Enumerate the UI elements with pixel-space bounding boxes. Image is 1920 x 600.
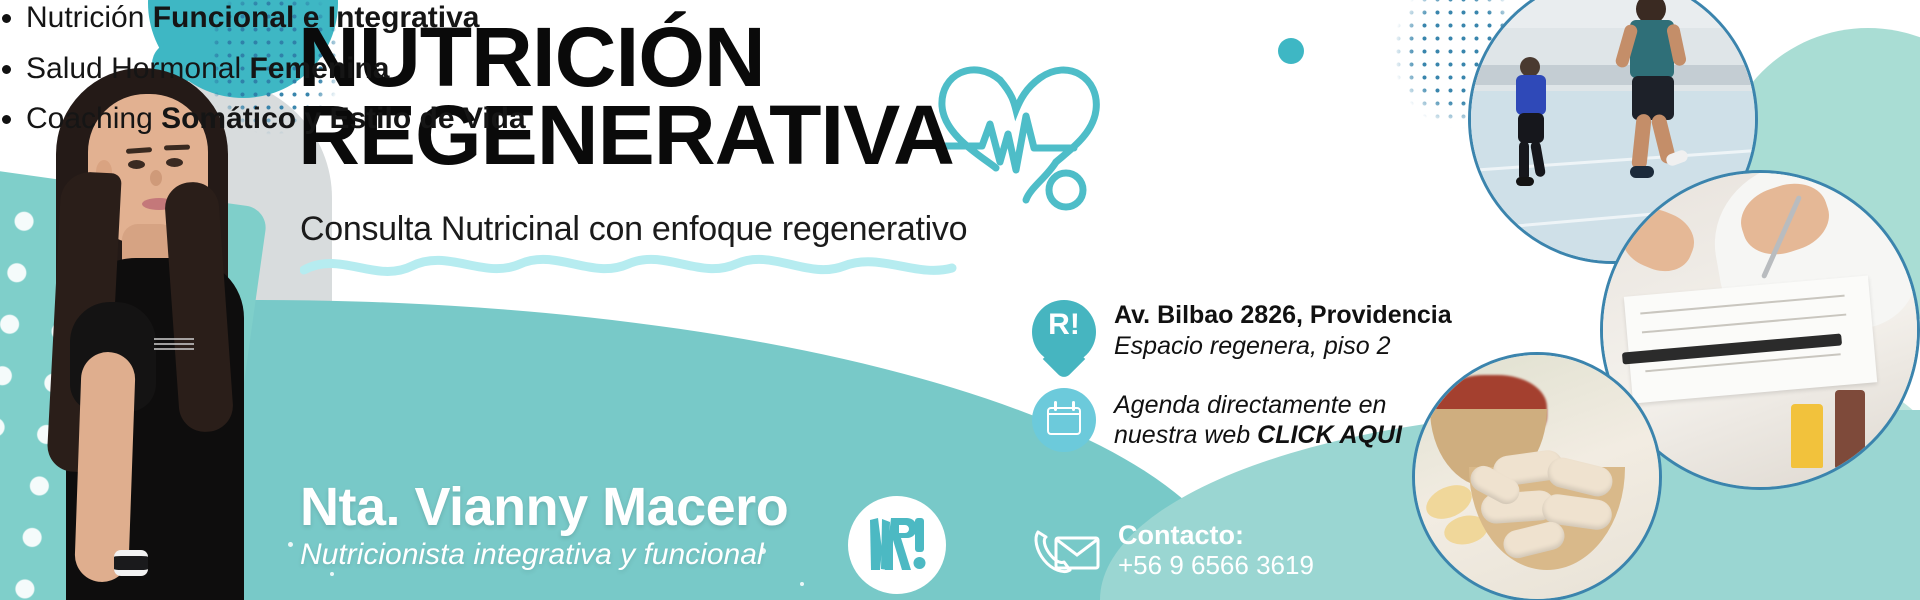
decor-sparkle — [288, 542, 293, 547]
contact-phone[interactable]: +56 9 6566 3619 — [1118, 551, 1314, 581]
supplement-capsules-photo — [1412, 352, 1662, 600]
location-row: R! Av. Bilbao 2826, Providencia Espacio … — [1032, 300, 1452, 378]
professional-name-block: Nta. Vianny Macero Nutricionista integra… — [300, 480, 788, 572]
service-bold: Femenina — [249, 52, 389, 85]
service-bold: Funcional e Integrativa — [153, 1, 480, 34]
headline-subtitle: Consulta Nutricinal con enfoque regenera… — [300, 210, 967, 249]
list-item: Nutrición Funcional e Integrativa — [0, 0, 1920, 37]
professional-role: Nutricionista integrativa y funcional — [300, 538, 788, 572]
services-list: Nutrición Funcional e Integrativa Salud … — [0, 0, 1920, 138]
booking-line-1: Agenda directamente en — [1114, 390, 1402, 421]
address-detail: Espacio regenera, piso 2 — [1114, 331, 1452, 362]
service-plain: Coaching — [26, 102, 161, 135]
booking-line-2: nuestra web — [1114, 421, 1257, 449]
address-line: Av. Bilbao 2826, Providencia — [1114, 300, 1452, 331]
page-title: NUTRICIÓN REGENERATIVA — [298, 18, 1032, 174]
calendar-icon — [1032, 388, 1096, 452]
booking-row[interactable]: Agenda directamente en nuestra web CLICK… — [1032, 388, 1402, 452]
decor-sparkle — [760, 548, 766, 554]
list-item: Coaching Somático y Estilo de Vida — [0, 101, 1920, 138]
map-pin-icon: R! — [1032, 300, 1096, 378]
nr-logo-icon — [866, 516, 928, 574]
decor-sparkle — [800, 582, 804, 586]
list-item: Salud Hormonal Femenina — [0, 51, 1920, 88]
service-bold: Somático y Estilo de Vida — [161, 102, 526, 135]
decor-sparkle — [330, 572, 334, 576]
contact-label: Contacto: — [1118, 520, 1314, 551]
booking-cta-link[interactable]: CLICK AQUI — [1257, 421, 1402, 449]
contact-text: Contacto: +56 9 6566 3619 — [1118, 520, 1314, 581]
booking-text: Agenda directamente en nuestra web CLICK… — [1114, 390, 1402, 451]
decor-wave-underline — [300, 252, 1000, 282]
professional-name: Nta. Vianny Macero — [300, 480, 788, 534]
brand-badge — [848, 496, 946, 594]
service-plain: Salud Hormonal — [26, 52, 249, 85]
promo-banner: NUTRICIÓN REGENERATIVA Consulta Nutricin… — [0, 0, 1920, 600]
contact-block: Contacto: +56 9 6566 3619 — [1030, 520, 1314, 581]
map-pin-logo-text: R! — [1032, 308, 1096, 342]
service-plain: Nutrición — [26, 1, 153, 34]
phone-envelope-icon — [1030, 522, 1102, 578]
location-text: Av. Bilbao 2826, Providencia Espacio reg… — [1114, 300, 1452, 361]
